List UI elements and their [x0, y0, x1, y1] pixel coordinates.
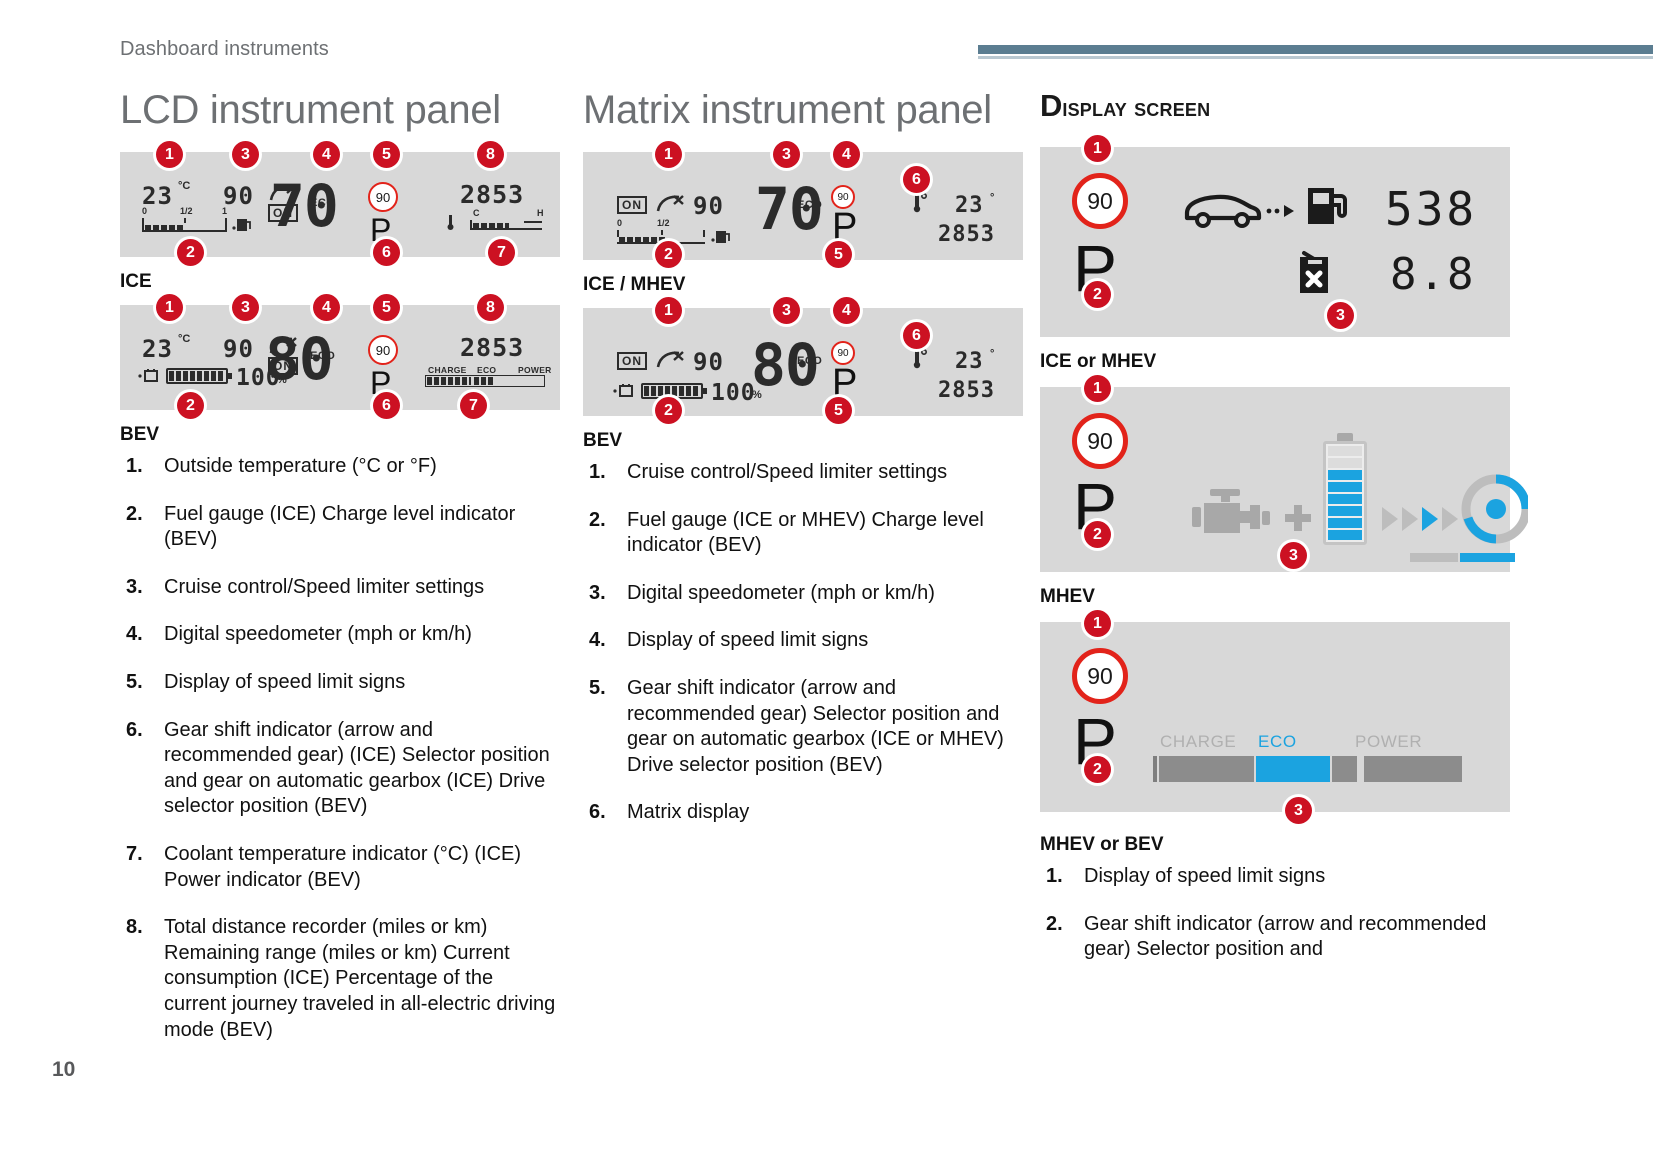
odometer-value: 2853 [938, 378, 995, 403]
list-item-text: Total distance recorder (miles or km) Re… [164, 916, 555, 1040]
fuel-tick-0: 0 [142, 206, 147, 216]
callout-6: 6 [373, 239, 400, 266]
list-item-number: 8. [126, 915, 143, 941]
caption-ice-or-mhev: ICE or MHEV [1040, 351, 1510, 373]
car-to-pump-icon [1183, 189, 1313, 231]
coolant-gauge-fill [473, 223, 509, 228]
temperature-unit: °C [178, 333, 190, 345]
list-item-text: Gear shift indicator (arrow and recommen… [164, 719, 550, 818]
wheel-icon [1452, 469, 1528, 555]
callout-1: 1 [655, 297, 682, 324]
charge-plug-icon [613, 382, 637, 400]
list-item-text: Fuel gauge (ICE or MHEV) Charge level in… [627, 509, 984, 557]
speed-limit-sign: 90 [1072, 648, 1128, 704]
callout-2: 2 [1084, 756, 1111, 783]
list-item-text: Coolant temperature indicator (°C) (ICE)… [164, 843, 521, 891]
page-number: 10 [52, 1058, 75, 1082]
callout-2: 2 [655, 397, 682, 424]
matrix-panel-ice-mhev: 1 3 4 6 2 5 ON 90 0 1/2 ECO [583, 152, 1023, 260]
callout-6: 6 [903, 322, 930, 349]
charge-gauge-tip [703, 388, 707, 394]
caption-bev: BEV [583, 430, 1023, 452]
callout-8: 8 [477, 294, 504, 321]
list-item: 7.Coolant temperature indicator (°C) (IC… [120, 842, 560, 893]
list-item: 2.Fuel gauge (ICE) Charge level indicato… [120, 502, 560, 553]
callout-2: 2 [177, 239, 204, 266]
callout-1: 1 [156, 141, 183, 168]
list-item: 3.Digital speedometer (mph or km/h) [583, 581, 1023, 607]
battery-cell-filled [1328, 482, 1362, 492]
callout-2: 2 [177, 392, 204, 419]
list-item-number: 3. [589, 581, 606, 607]
battery-cell-filled [1328, 470, 1362, 480]
callout-1: 1 [1084, 135, 1111, 162]
power-label-power: POWER [1355, 732, 1422, 752]
list-item: 2.Gear shift indicator (arrow and recomm… [1040, 912, 1510, 963]
callout-1: 1 [655, 141, 682, 168]
cruise-speed-value: 90 [223, 335, 254, 363]
power-indicator-charge-fill [427, 377, 471, 385]
charge-gauge-fill [169, 371, 225, 381]
callout-5: 5 [825, 397, 852, 424]
list-item-number: 6. [126, 718, 143, 744]
list-item: 6.Matrix display [583, 800, 1023, 826]
speed-limiter-icon [655, 350, 685, 370]
power-bar-power-segment [1364, 756, 1462, 782]
speed-limit-sign: 90 [1072, 413, 1128, 469]
fuel-pump-icon [1302, 180, 1354, 232]
digital-speed-value: 80 [751, 336, 819, 394]
list-item: 2.Fuel gauge (ICE or MHEV) Charge level … [583, 508, 1023, 559]
coolant-tick-c: C [473, 208, 480, 218]
callout-5: 5 [825, 241, 852, 268]
list-item-number: 1. [126, 454, 143, 480]
display-panel-mhev: 1 2 3 90 P [1040, 387, 1510, 572]
list-item-text: Gear shift indicator (arrow and recommen… [627, 677, 1004, 776]
callout-3: 3 [232, 141, 259, 168]
list-item-number: 7. [126, 842, 143, 868]
callout-2: 2 [1084, 521, 1111, 548]
callout-4: 4 [833, 297, 860, 324]
fuel-pump-icon [232, 216, 254, 234]
fuel-gauge-fill [619, 237, 667, 242]
outside-temperature-icon [913, 348, 931, 370]
callout-7: 7 [488, 239, 515, 266]
list-item-text: Outside temperature (°C or °F) [164, 455, 437, 477]
callout-3: 3 [232, 294, 259, 321]
coolant-gauge-top-tick [524, 221, 542, 223]
power-label-charge: CHARGE [1160, 732, 1236, 752]
battery-cell-filled [1328, 506, 1362, 516]
speed-limit-value: 90 [837, 192, 848, 203]
power-bar-charge-segment [1159, 756, 1254, 782]
list-item: 4.Display of speed limit signs [583, 628, 1023, 654]
cruise-speed-value: 90 [693, 348, 724, 376]
cruise-speed-value: 90 [693, 192, 724, 220]
outside-temperature-value: 23 [955, 193, 984, 218]
list-item-number: 6. [589, 800, 606, 826]
list-item: 1.Cruise control/Speed limiter settings [583, 460, 1023, 486]
caption-mhev: MHEV [1040, 586, 1510, 608]
list-item-text: Matrix display [627, 801, 749, 823]
list-item-text: Digital speedometer (mph or km/h) [164, 623, 472, 645]
coolant-tick-h: H [537, 208, 544, 218]
speed-limit-sign: 90 [1072, 173, 1128, 229]
list-item: 6.Gear shift indicator (arrow and recomm… [120, 718, 560, 820]
title-rest: isplay screen [1062, 94, 1210, 122]
list-item-number: 5. [126, 670, 143, 696]
speed-limit-sign: 90 [368, 335, 398, 365]
coolant-thermometer-icon [445, 212, 461, 232]
lcd-panel-bev: 1 3 4 5 8 2 6 7 23 °C 90 ON [120, 305, 560, 410]
callout-6: 6 [373, 392, 400, 419]
list-item: 3.Cruise control/Speed limiter settings [120, 575, 560, 601]
battery-cell-filled [1328, 530, 1362, 540]
column-matrix-instrument-panel: Matrix instrument panel 1 3 4 6 2 5 ON 9… [583, 90, 1023, 848]
callout-4: 4 [833, 141, 860, 168]
charge-gauge-fill [644, 386, 700, 396]
fuel-tick-half: 1/2 [180, 206, 193, 216]
fuel-gauge-fill [145, 225, 183, 230]
lcd-panel-ice: 1 3 4 5 8 2 6 7 23 °C 90 ON 0 1/2 1 [120, 152, 560, 257]
callout-5: 5 [373, 294, 400, 321]
list-item-number: 1. [589, 460, 606, 486]
callout-3: 3 [1280, 542, 1307, 569]
charge-percent-value: 100 [711, 380, 756, 406]
matrix-legend-list: 1.Cruise control/Speed limiter settings2… [583, 460, 1023, 826]
battery-cell-filled [1328, 518, 1362, 528]
callout-4: 4 [313, 294, 340, 321]
cruise-on-badge: ON [617, 196, 647, 214]
callout-2: 2 [655, 241, 682, 268]
jerrycan-empty-icon [1286, 247, 1342, 303]
callout-2: 2 [1084, 281, 1111, 308]
power-label-eco: ECO [477, 365, 496, 375]
outside-temperature-value: 23 [955, 349, 984, 374]
speed-limit-value: 90 [376, 190, 390, 205]
speed-limit-value: 90 [376, 343, 390, 358]
power-bar-eco-segment [1256, 756, 1330, 782]
battery-cell-empty [1328, 458, 1362, 468]
list-item-number: 2. [126, 502, 143, 528]
callout-8: 8 [477, 141, 504, 168]
list-item-number: 2. [1046, 912, 1063, 938]
list-item-number: 1. [1046, 864, 1063, 890]
callout-3: 3 [773, 297, 800, 324]
speed-limit-value: 90 [1087, 188, 1113, 215]
charge-plug-icon [138, 367, 162, 385]
temperature-unit: ° [990, 192, 994, 204]
fuel-tick-1: 1 [222, 206, 227, 216]
title-first-letter: D [1040, 88, 1062, 123]
display-legend-list: 1.Display of speed limit signs2.Gear shi… [1040, 864, 1510, 963]
list-item-number: 3. [126, 575, 143, 601]
digital-speed-value: 70 [755, 180, 823, 238]
list-item: 4.Digital speedometer (mph or km/h) [120, 622, 560, 648]
callout-3: 3 [773, 141, 800, 168]
battery-cell-filled [1328, 494, 1362, 504]
manual-page: Dashboard instruments LCD instrument pan… [0, 0, 1653, 1165]
list-item-text: Cruise control/Speed limiter settings [164, 576, 484, 598]
digital-speed-value: 80 [265, 330, 333, 388]
list-item-number: 4. [589, 628, 606, 654]
speed-limiter-icon [655, 194, 685, 214]
column-display-screen: Display screen 1 2 3 90 P [1040, 90, 1510, 985]
callout-3: 3 [1327, 302, 1354, 329]
list-item: 5.Display of speed limit signs [120, 670, 560, 696]
list-item-text: Cruise control/Speed limiter settings [627, 461, 947, 483]
caption-mhev-or-bev: MHEV or BEV [1040, 834, 1510, 856]
caption-bev: BEV [120, 424, 560, 446]
list-item-number: 4. [126, 622, 143, 648]
odometer-value: 2853 [460, 333, 524, 362]
matrix-panel-bev: 1 3 4 6 2 5 ON 90 100 % ECO 80 [583, 308, 1023, 416]
list-item: 1.Display of speed limit signs [1040, 864, 1510, 890]
callout-1: 1 [156, 294, 183, 321]
caption-ice: ICE [120, 271, 560, 293]
header-accent-rule-thin [978, 56, 1653, 59]
power-bar-mid-segment [1332, 756, 1357, 782]
power-bar-left-cap [1153, 756, 1157, 782]
page-title-matrix: Matrix instrument panel [583, 90, 1023, 130]
callout-4: 4 [313, 141, 340, 168]
consumption-value: 8.8 [1390, 249, 1475, 300]
list-item-number: 2. [589, 508, 606, 534]
battery-cell-empty [1328, 446, 1362, 456]
road-bar-grey [1410, 553, 1458, 562]
list-item-text: Display of speed limit signs [164, 671, 405, 693]
power-label-charge: CHARGE [428, 365, 467, 375]
engine-icon [1188, 485, 1274, 547]
caption-ice-mhev: ICE / MHEV [583, 274, 1023, 296]
lcd-legend-list: 1.Outside temperature (°C or °F)2.Fuel g… [120, 454, 560, 1043]
cruise-speed-value: 90 [223, 182, 254, 210]
power-label-power: POWER [518, 365, 552, 375]
list-item-number: 5. [589, 676, 606, 702]
list-item: 8.Total distance recorder (miles or km) … [120, 915, 560, 1043]
list-item-text: Display of speed limit signs [627, 629, 868, 651]
list-item: 5.Gear shift indicator (arrow and recomm… [583, 676, 1023, 778]
outside-temperature-value: 23 [142, 335, 173, 363]
header-accent-rule [978, 45, 1653, 54]
breadcrumb: Dashboard instruments [120, 38, 329, 61]
odometer-value: 2853 [938, 222, 995, 247]
outside-temperature-icon [913, 192, 931, 214]
road-bar-blue [1460, 553, 1515, 562]
page-title-display-screen: Display screen [1040, 90, 1510, 121]
fuel-pump-icon [711, 228, 733, 246]
charge-gauge-tip [228, 373, 232, 379]
speed-limit-value: 90 [837, 348, 848, 359]
odometer-value: 2853 [460, 180, 524, 209]
display-panel-mhev-or-bev: 1 2 3 90 P CHARGE ECO POWER [1040, 622, 1510, 812]
callout-1: 1 [1084, 610, 1111, 637]
callout-6: 6 [903, 166, 930, 193]
callout-7: 7 [460, 392, 487, 419]
list-item-text: Digital speedometer (mph or km/h) [627, 582, 935, 604]
callout-3: 3 [1285, 797, 1312, 824]
power-indicator-eco-fill [474, 377, 494, 385]
speed-limit-sign: 90 [368, 182, 398, 212]
temperature-unit: ° [990, 348, 994, 360]
temperature-unit: °C [178, 180, 190, 192]
list-item-text: Fuel gauge (ICE) Charge level indicator … [164, 503, 515, 551]
power-label-eco: ECO [1258, 732, 1297, 752]
callout-5: 5 [373, 141, 400, 168]
range-value: 538 [1385, 182, 1477, 236]
fuel-tick-half: 1/2 [657, 218, 670, 228]
list-item-text: Display of speed limit signs [1084, 865, 1325, 887]
callout-1: 1 [1084, 375, 1111, 402]
power-bar-divider [1359, 756, 1362, 782]
list-item-text: Gear shift indicator (arrow and recommen… [1084, 913, 1486, 961]
digital-speed-value: 70 [270, 177, 338, 235]
display-panel-ice-mhev: 1 2 3 90 P 538 [1040, 147, 1510, 337]
cruise-on-badge: ON [617, 352, 647, 370]
list-item: 1.Outside temperature (°C or °F) [120, 454, 560, 480]
speed-limit-value: 90 [1087, 428, 1113, 455]
column-lcd-instrument-panel: LCD instrument panel 1 3 4 5 8 2 6 7 23 … [120, 90, 560, 1065]
speed-limit-value: 90 [1087, 663, 1113, 690]
plus-icon [1283, 503, 1313, 533]
page-title-lcd: LCD instrument panel [120, 90, 560, 130]
fuel-tick-0: 0 [617, 218, 622, 228]
